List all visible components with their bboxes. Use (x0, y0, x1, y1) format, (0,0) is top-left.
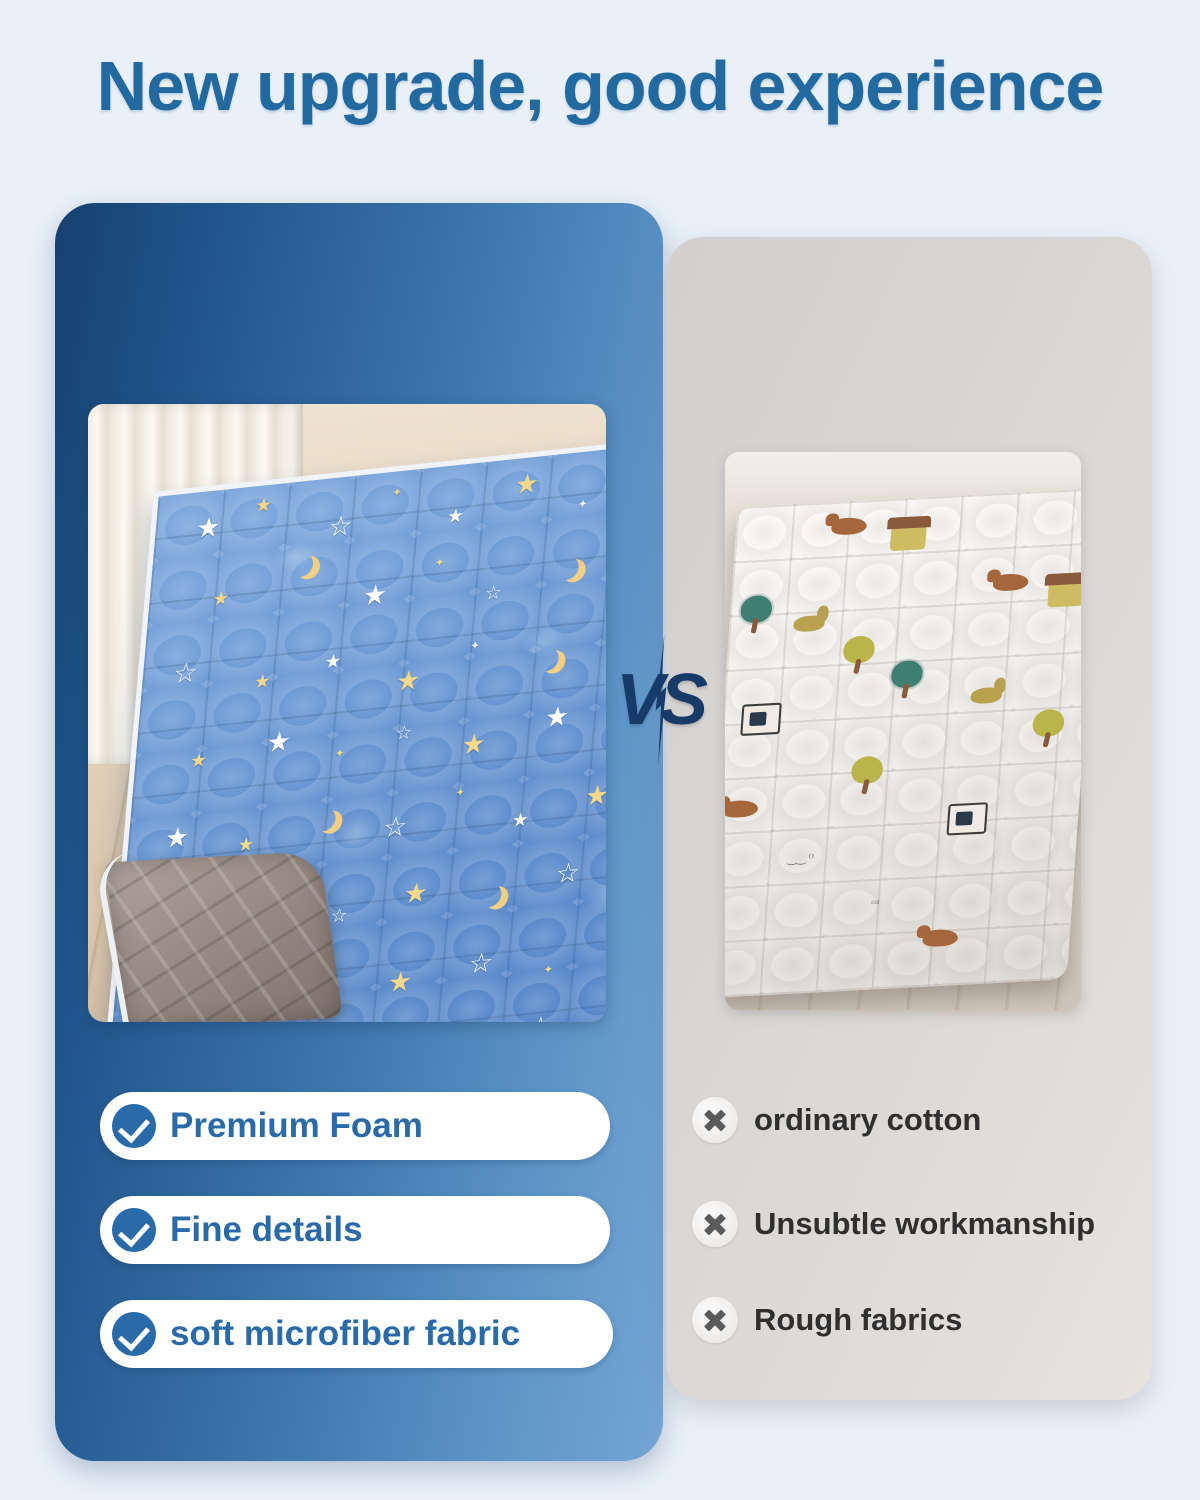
ours-product-photo: ★ ★ ☆ ✦ ★ ★ ✦ ☆ ★ ★ ✦ ☆ ★ ☆ ★ (88, 404, 606, 1022)
ours-feature-label: Premium Foam (170, 1106, 423, 1146)
x-circle-icon (692, 1297, 738, 1343)
check-circle-icon (112, 1312, 156, 1356)
others-feature-label: Rough fabrics (754, 1302, 962, 1338)
house-motif (890, 524, 927, 551)
white-quilted-mat: ‿‿ ᴼ ᶜᵒᶦ (725, 488, 1081, 998)
ours-feature-item: Fine details (100, 1196, 610, 1264)
ours-feature-label: Fine details (170, 1210, 363, 1250)
ours-feature-item: soft microfiber fabric (100, 1300, 613, 1368)
page-title: New upgrade, good experience (0, 46, 1200, 126)
x-circle-icon (692, 1097, 738, 1143)
others-product-photo: ‿‿ ᴼ ᶜᵒᶦ (725, 452, 1081, 1010)
script-motif: ‿‿ ᴼ (787, 851, 814, 866)
ours-photo-scene: ★ ★ ☆ ✦ ★ ★ ✦ ☆ ★ ★ ✦ ☆ ★ ☆ ★ (88, 404, 606, 1022)
others-feature-label: ordinary cotton (754, 1102, 981, 1138)
check-circle-icon (112, 1208, 156, 1252)
others-feature-item: Rough fabrics (692, 1295, 962, 1345)
x-circle-icon (692, 1201, 738, 1247)
comparison-infographic: New upgrade, good experience Ours ★ ★ ☆ … (0, 0, 1200, 1500)
others-feature-label: Unsubtle workmanship (754, 1206, 1095, 1242)
others-feature-item: Unsubtle workmanship (692, 1199, 1095, 1249)
camp-motif (946, 802, 988, 835)
camp-motif (740, 703, 782, 736)
house-motif (1047, 581, 1081, 608)
ours-feature-label: soft microfiber fabric (170, 1314, 520, 1354)
others-photo-scene: ‿‿ ᴼ ᶜᵒᶦ (725, 452, 1081, 1010)
ours-feature-item: Premium Foam (100, 1092, 610, 1160)
quilt-stitching (725, 488, 1081, 998)
others-feature-item: ordinary cotton (692, 1095, 981, 1145)
check-circle-icon (112, 1104, 156, 1148)
script-motif: ᶜᵒᶦ (871, 897, 880, 910)
